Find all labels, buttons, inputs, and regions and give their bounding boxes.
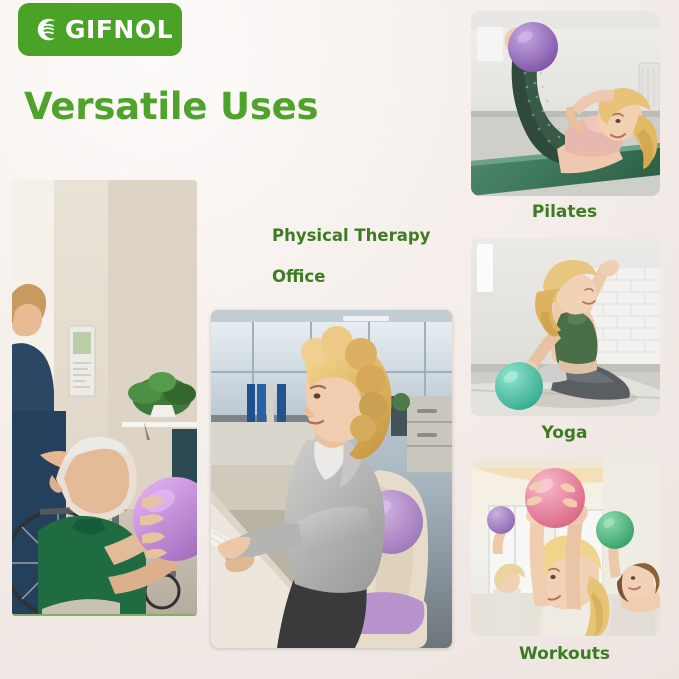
workouts-illustration bbox=[471, 458, 660, 636]
brand-name: GIFNOL bbox=[65, 17, 173, 42]
pilates-illustration bbox=[471, 11, 660, 196]
circular-wave-icon bbox=[33, 16, 60, 43]
photo-yoga bbox=[471, 238, 660, 416]
poster-canvas: GIFNOL Versatile Uses bbox=[0, 0, 679, 679]
photo-workouts bbox=[471, 458, 660, 636]
yoga-illustration bbox=[471, 238, 660, 416]
photo-pilates bbox=[471, 11, 660, 196]
caption-workouts: Workouts bbox=[455, 644, 674, 664]
physical-therapy-illustration bbox=[12, 180, 197, 614]
office-illustration bbox=[211, 310, 452, 648]
page-title: Versatile Uses bbox=[24, 85, 318, 128]
brand-logo-badge: GIFNOL bbox=[18, 3, 182, 56]
photo-physical-therapy bbox=[12, 180, 197, 616]
caption-office: Office bbox=[272, 267, 325, 286]
caption-physical-therapy: Physical Therapy bbox=[272, 226, 430, 245]
caption-yoga: Yoga bbox=[455, 423, 674, 443]
photo-office bbox=[211, 310, 452, 648]
caption-pilates: Pilates bbox=[455, 202, 674, 222]
